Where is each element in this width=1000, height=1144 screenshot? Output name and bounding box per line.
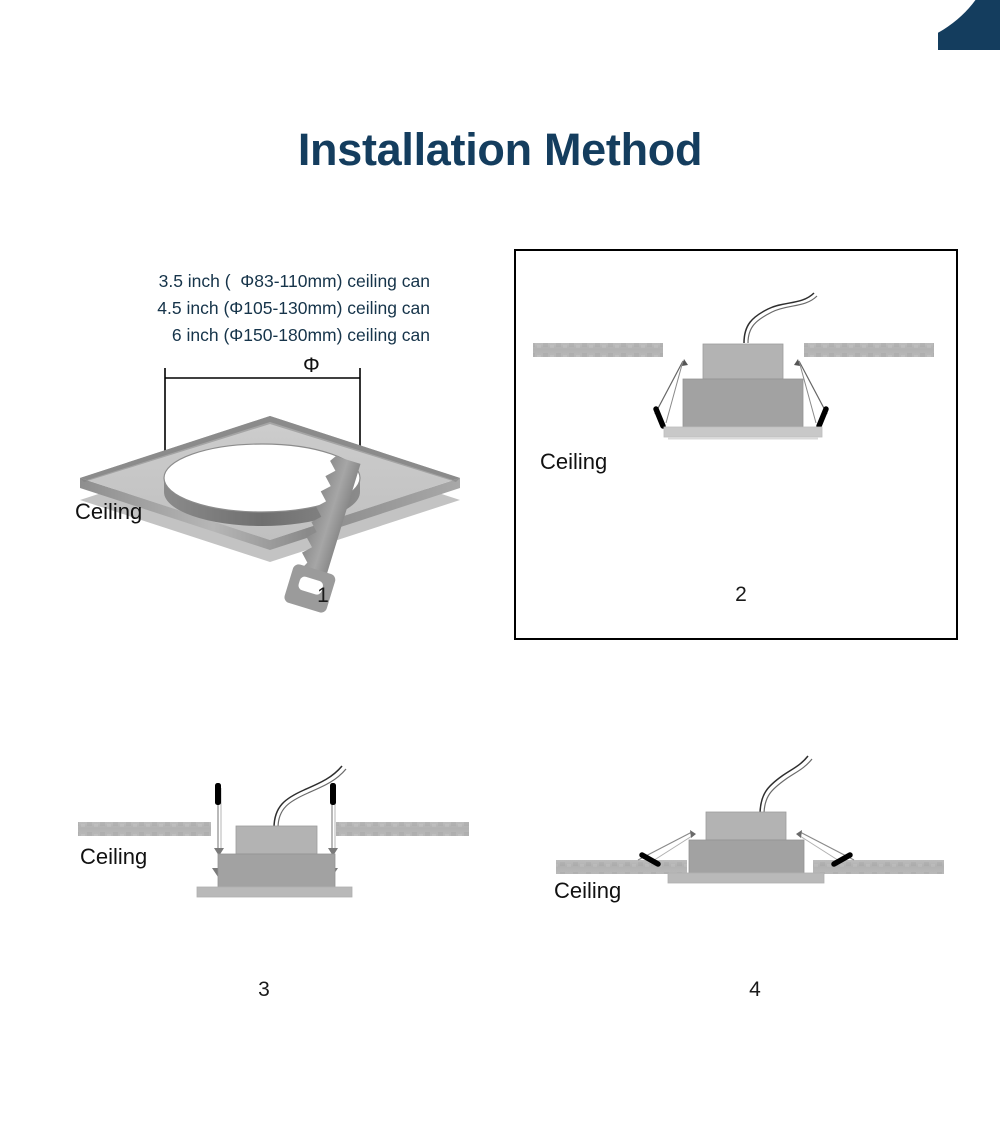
downlight-fixture-icon [664,344,822,440]
corner-decoration-cutout [938,0,996,48]
step-2-ceiling-label: Ceiling [540,449,607,475]
wire-icon [744,293,817,343]
step-3-ceiling-label: Ceiling [80,844,147,870]
step-4-ceiling-label: Ceiling [554,878,621,904]
spec-line-3: 6 inch (Φ150-180mm) ceiling can [40,322,430,349]
downlight-fixture-icon [197,826,352,897]
step-2-panel: Ceiling 2 [514,249,958,640]
step-1-diagram: Ceiling Φ 1 [60,352,480,632]
downlight-fixture-icon [668,812,824,883]
step-3-number: 3 [244,978,284,1002]
step-1-ceiling-label: Ceiling [75,499,142,525]
corner-decoration-fill [938,0,1000,50]
page-title: Installation Method [0,124,1000,176]
step-2-number: 2 [721,583,761,607]
corner-decoration [938,0,1000,50]
step-2-diagram: Ceiling 2 [516,251,956,638]
step-3-diagram: Ceiling 3 [60,760,500,1020]
ceiling-can-spec-list: 3.5 inch ( Φ83-110mm) ceiling can 4.5 in… [40,268,430,349]
wire-icon [760,756,812,815]
spec-line-2: 4.5 inch (Φ105-130mm) ceiling can [40,295,430,322]
step-4-number: 4 [735,978,775,1002]
step-1-number: 1 [303,584,343,608]
step-2-illustration [516,251,956,638]
step-4-diagram: Ceiling 4 [520,760,960,1020]
step-1-dimension-label: Φ [303,354,320,378]
step-1-illustration [60,352,480,632]
spec-line-1: 3.5 inch ( Φ83-110mm) ceiling can [40,268,430,295]
